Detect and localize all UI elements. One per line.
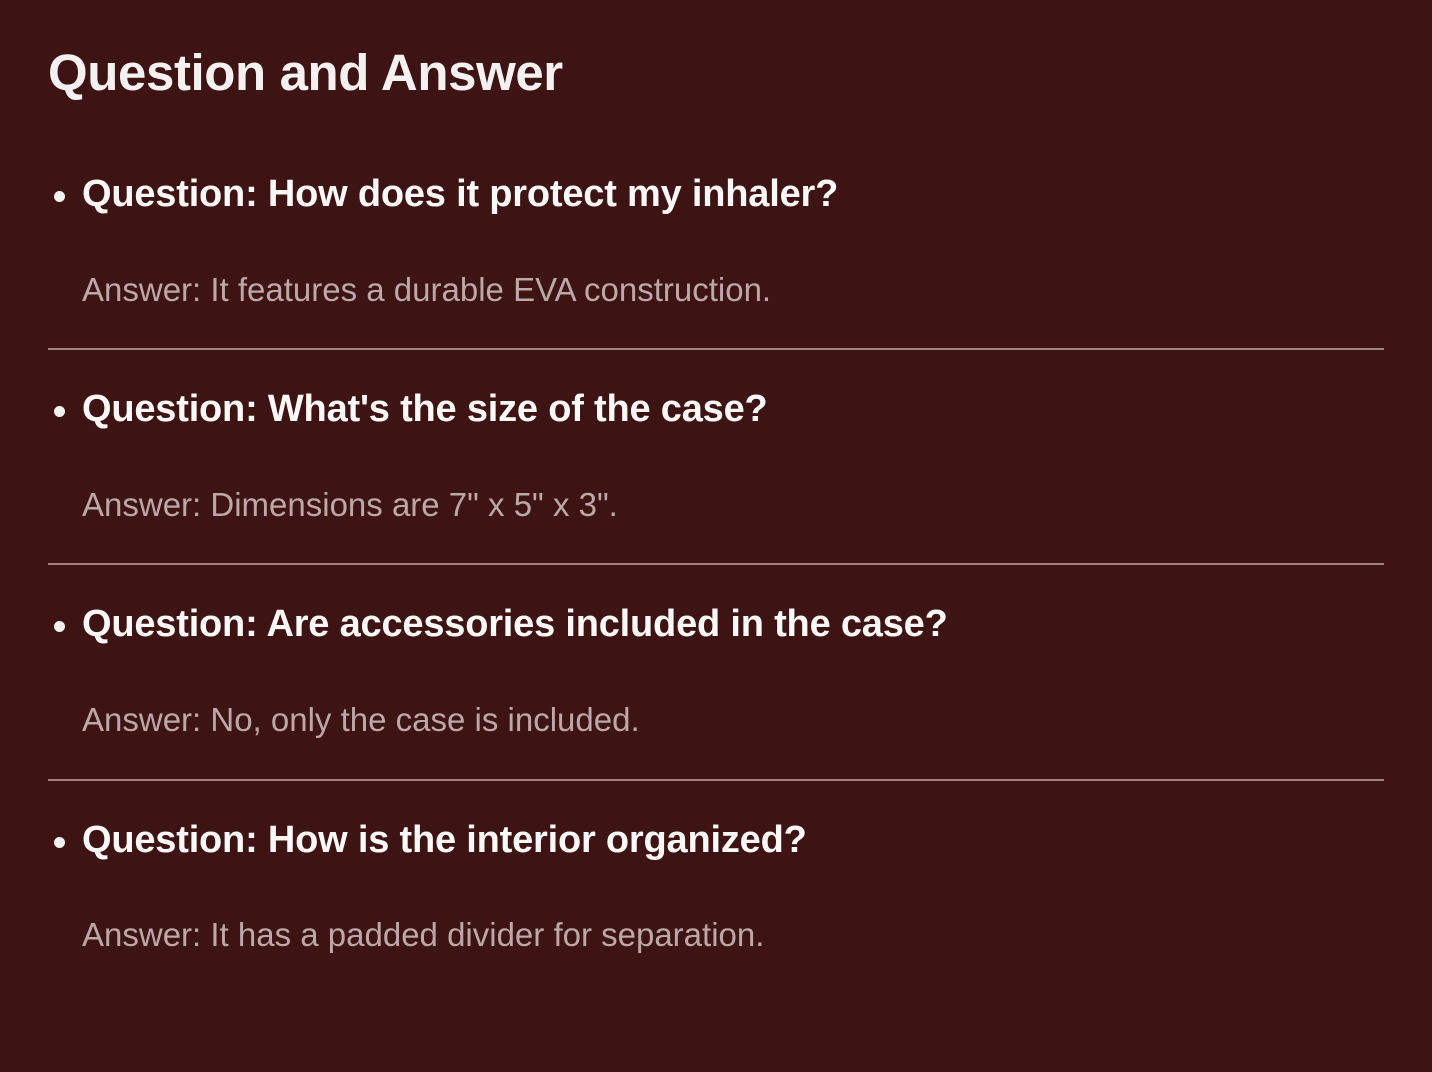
- qa-question: Question: How does it protect my inhaler…: [82, 172, 1384, 218]
- question-and-answer-panel: Question and Answer Question: How does i…: [0, 0, 1432, 1072]
- bullet-dot-icon: [54, 406, 65, 417]
- qa-list: Question: How does it protect my inhaler…: [48, 172, 1384, 955]
- qa-spacer: [48, 350, 1384, 387]
- qa-answer: Answer: No, only the case is included.: [82, 648, 1384, 740]
- qa-answer: Answer: It has a padded divider for sepa…: [82, 863, 1384, 955]
- qa-question: Question: Are accessories included in th…: [82, 602, 1384, 648]
- list-item: Question: How is the interior organized?…: [48, 818, 1384, 955]
- page-title: Question and Answer: [48, 44, 1384, 101]
- bullet-dot-icon: [54, 621, 65, 632]
- qa-question: Question: How is the interior organized?: [82, 818, 1384, 864]
- qa-spacer: [48, 781, 1384, 818]
- qa-question: Question: What's the size of the case?: [82, 387, 1384, 433]
- qa-answer: Answer: Dimensions are 7" x 5" x 3".: [82, 433, 1384, 525]
- qa-answer: Answer: It features a durable EVA constr…: [82, 218, 1384, 310]
- list-item: Question: What's the size of the case? A…: [48, 387, 1384, 524]
- title-spacer: [48, 101, 1384, 172]
- list-item: Question: Are accessories included in th…: [48, 602, 1384, 739]
- bullet-dot-icon: [54, 191, 65, 202]
- bullet-dot-icon: [54, 837, 65, 848]
- qa-spacer: [48, 565, 1384, 602]
- list-item: Question: How does it protect my inhaler…: [48, 172, 1384, 309]
